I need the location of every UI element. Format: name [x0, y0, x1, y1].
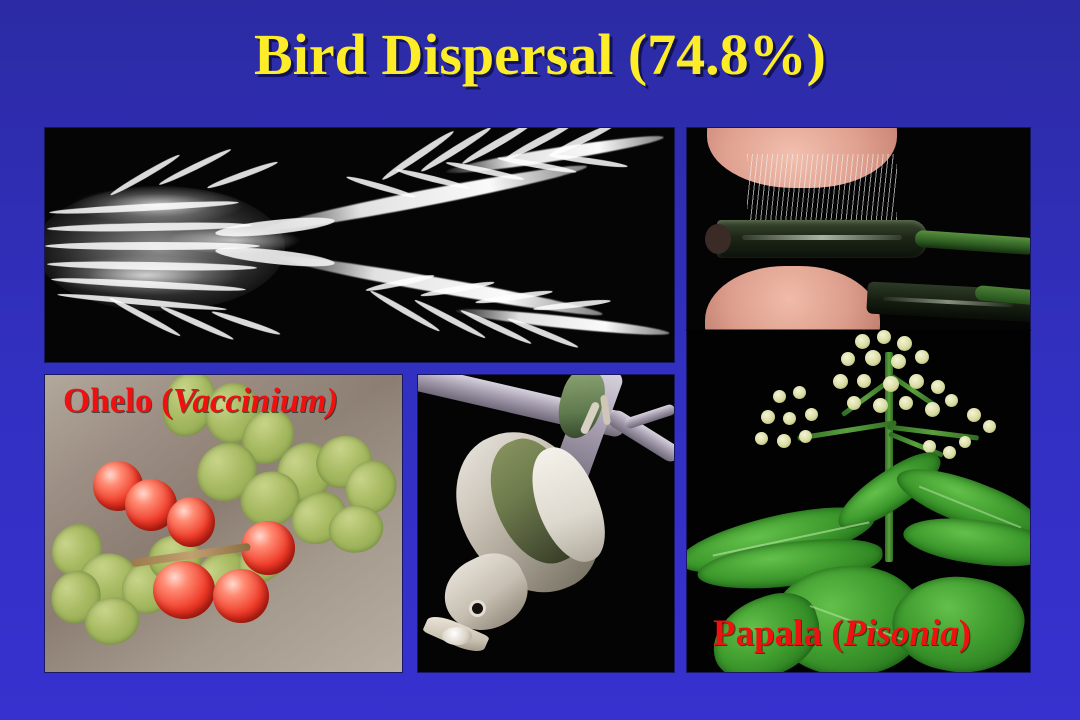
bird-eye — [472, 603, 483, 614]
papala-floret — [925, 402, 940, 417]
pod-highlight — [742, 235, 902, 240]
papala-floret — [943, 446, 956, 459]
caption-ohelo: Ohelo (Vaccinium) — [63, 381, 338, 421]
caption-genus-name: Vaccinium) — [173, 381, 338, 420]
papala-floret — [773, 390, 786, 403]
caption-papala: Papala (Pisonia) — [713, 612, 971, 655]
image-panel-bidens[interactable]: Ko’oko’lau (Bidens) — [45, 128, 674, 362]
awn-barb — [346, 174, 417, 200]
papala-floret — [755, 432, 768, 445]
papala-floret — [873, 398, 888, 413]
caption-common-name: Ohelo — [63, 381, 161, 420]
ohelo-berry — [213, 569, 269, 623]
caption-bidens: Ko’oko’lau (Bidens) — [273, 357, 608, 362]
papala-floret — [847, 396, 861, 410]
fingertip-lower — [705, 266, 880, 330]
papala-floret — [931, 380, 945, 394]
caption-genus-name: Bidens — [484, 358, 595, 362]
image-panel-bird[interactable] — [418, 375, 674, 672]
slide-canvas: Bird Dispersal (74.8%) — [0, 0, 1080, 720]
papala-floret — [877, 330, 891, 344]
papala-floret — [891, 354, 906, 369]
papala-floret — [983, 420, 996, 433]
papala-floret — [783, 412, 796, 425]
caption-paren-open: ( — [831, 613, 843, 654]
papala-floret — [793, 386, 806, 399]
caption-paren-open: ( — [161, 381, 173, 420]
papala-floret — [833, 374, 848, 389]
honeycreeper-photo — [418, 375, 674, 672]
sticky-pisonia-fruit-photo — [687, 128, 1030, 330]
caption-paren-close: ) — [959, 613, 971, 654]
bidens-achene-photo — [45, 128, 674, 362]
caption-paren-open: ( — [471, 358, 484, 362]
papala-floret — [959, 436, 971, 448]
page-title: Bird Dispersal (74.8%) — [0, 24, 1080, 86]
papala-floret — [883, 376, 899, 392]
papala-floret — [841, 352, 855, 366]
papala-floret — [897, 336, 912, 351]
caption-common-name: Ko’oko’lau — [273, 358, 471, 362]
papala-floret — [761, 410, 775, 424]
branch-twig — [624, 403, 674, 430]
papala-floret — [777, 434, 791, 448]
papala-floret — [899, 396, 913, 410]
papala-floret — [805, 408, 818, 421]
inflorescence-branch — [797, 420, 897, 441]
basal-spine — [206, 159, 279, 190]
papala-floret — [909, 374, 924, 389]
beak-seed — [442, 627, 472, 645]
ohelo-berry — [167, 497, 215, 547]
caption-common-name: Papala — [713, 613, 831, 654]
papala-floret — [855, 334, 870, 349]
pod-base — [705, 224, 731, 254]
image-panel-sticky-fruit[interactable] — [687, 128, 1030, 330]
papala-floret — [915, 350, 929, 364]
papala-floret — [799, 430, 812, 443]
green-stem — [915, 230, 1030, 255]
caption-genus-name: Pisonia — [844, 613, 959, 654]
papala-floret — [945, 394, 958, 407]
sticky-strands — [747, 154, 897, 224]
image-panel-papala[interactable]: Papala (Pisonia) — [687, 330, 1030, 672]
caption-paren-close: ) — [595, 358, 608, 362]
papala-floret — [967, 408, 981, 422]
ohelo-berry — [153, 561, 215, 619]
papala-floret — [865, 350, 881, 366]
papala-floret — [857, 374, 871, 388]
image-panel-ohelo[interactable]: Ohelo (Vaccinium) — [45, 375, 402, 672]
